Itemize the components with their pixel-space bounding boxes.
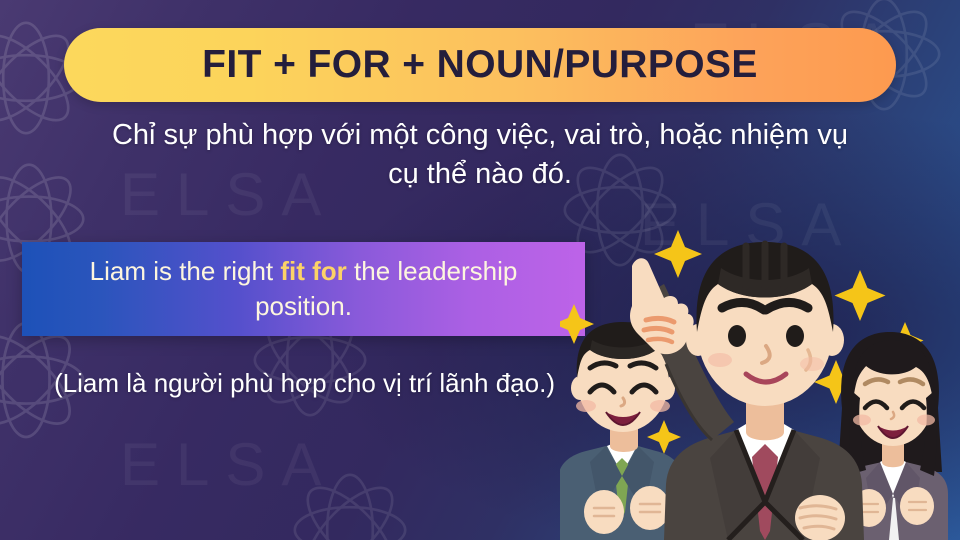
elsa-wordmark: ELSA <box>120 430 337 499</box>
translation-text: (Liam là người phù hợp cho vị trí lãnh đ… <box>28 366 581 402</box>
elsa-rosette-icon <box>290 470 410 540</box>
example-highlight: fit for <box>280 256 346 286</box>
page-title: FIT + FOR + NOUN/PURPOSE <box>202 43 758 87</box>
title-banner: FIT + FOR + NOUN/PURPOSE <box>64 28 896 102</box>
slide-root: ELSA ELSA ELSA ELSA ELSA FIT + FOR + NOU… <box>0 0 960 540</box>
example-sentence-box: Liam is the right fit for the leadership… <box>22 242 585 336</box>
example-sentence: Liam is the right fit for the leadership… <box>71 254 536 324</box>
sparkle-icon <box>835 270 886 321</box>
example-before: Liam is the right <box>90 256 281 286</box>
sparkle-icon <box>654 230 702 278</box>
subtitle-text: Chỉ sự phù hợp với một công việc, vai tr… <box>95 116 865 193</box>
sparkle-icon <box>647 420 681 454</box>
illustration-business-people <box>560 212 960 540</box>
